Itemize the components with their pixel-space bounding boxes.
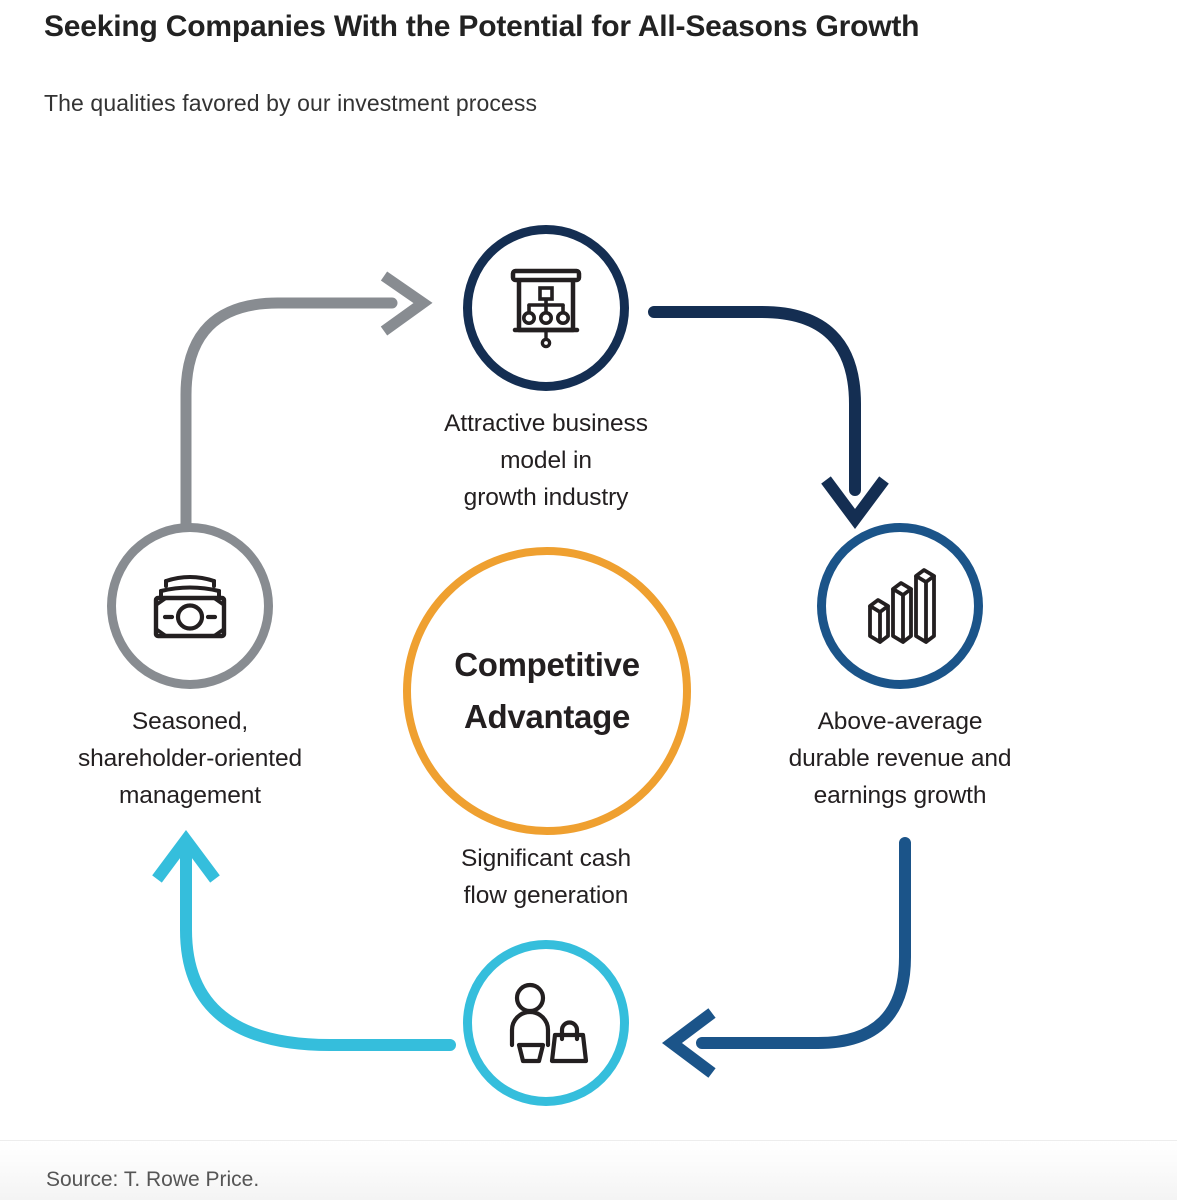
- chart-footer: Source: T. Rowe Price.: [0, 1140, 1177, 1200]
- node-right-label: Above-average durable revenue and earnin…: [735, 703, 1065, 815]
- node-left-circle: [107, 523, 273, 689]
- node-top-circle: [463, 225, 629, 391]
- bar-chart-3d-icon: [850, 556, 950, 656]
- cash-banknotes-icon: [140, 556, 240, 656]
- center-competitive-advantage: Competitive Advantage: [403, 547, 691, 835]
- node-bottom-circle: [463, 940, 629, 1106]
- node-right-circle: [817, 523, 983, 689]
- chart-header: Seeking Companies With the Potential for…: [44, 0, 1094, 117]
- node-significant-cash-flow[interactable]: Significant cash flow generation: [381, 940, 711, 1106]
- node-seasoned-management[interactable]: Seasoned, shareholder-oriented managemen…: [25, 523, 355, 815]
- center-label: Competitive Advantage: [454, 639, 640, 743]
- node-bottom-label: Significant cash flow generation: [381, 840, 711, 914]
- presentation-org-chart-icon: [496, 258, 596, 358]
- person-shopping-bag-icon: [496, 973, 596, 1073]
- page-title: Seeking Companies With the Potential for…: [44, 0, 1044, 50]
- node-above-average-growth[interactable]: Above-average durable revenue and earnin…: [735, 523, 1065, 815]
- node-left-label: Seasoned, shareholder-oriented managemen…: [25, 703, 355, 815]
- node-attractive-business-model[interactable]: Attractive business model in growth indu…: [381, 225, 711, 517]
- node-top-label: Attractive business model in growth indu…: [381, 405, 711, 517]
- page-subtitle: The qualities favored by our investment …: [44, 50, 1094, 117]
- cycle-diagram: Attractive business model in growth indu…: [0, 195, 1177, 1130]
- source-note: Source: T. Rowe Price.: [46, 1168, 259, 1192]
